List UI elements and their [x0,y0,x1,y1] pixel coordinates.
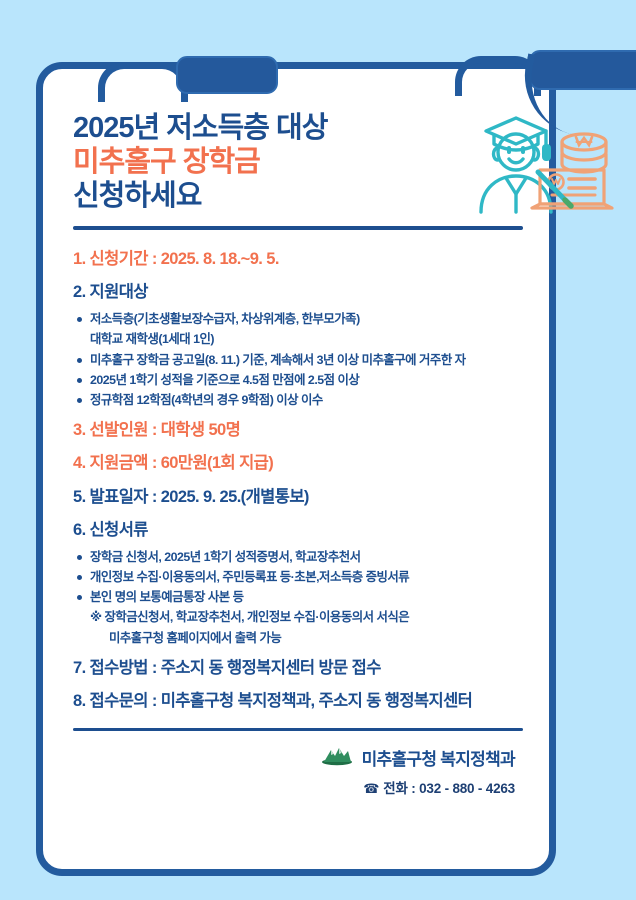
footer-divider [73,728,523,731]
binder-clip-left [98,40,278,100]
section-quota: 3. 선발인원 : 대학생 50명 [73,415,523,446]
sections-container: 1. 신청기간 : 2025. 8. 18.~9. 5.2. 지원대상저소득층(… [73,244,523,718]
poster-card: 2025년 저소득층 대상 미추홀구 장학금 신청하세요 1. 신청기간 : 2… [36,62,556,876]
telephone-icon: ☎ [363,781,379,796]
section-period: 1. 신청기간 : 2025. 8. 18.~9. 5. [73,244,523,275]
phone-row: ☎전화 : 032 - 880 - 4263 [73,777,515,797]
headline: 2025년 저소득층 대상 미추홀구 장학금 신청하세요 [73,111,523,214]
binder-clip-right [455,32,636,102]
phone-number: 전화 : 032 - 880 - 4263 [383,781,515,796]
title-divider [73,226,523,230]
binder-clip-tab [529,50,636,90]
footer: 미추홀구청 복지정책과 ☎전화 : 032 - 880 - 4263 [73,744,523,797]
section-eligibility: 2. 지원대상저소득층(기초생활보장수급자, 차상위계층, 한부모가족)대학교 … [73,277,523,410]
section-heading: 5. 발표일자 : 2025. 9. 25.(개별통보) [73,482,523,513]
headline-line-1: 2025년 저소득층 대상 [73,111,523,145]
binder-clip-tab [176,56,278,94]
section-documents: 6. 신청서류장학금 신청서, 2025년 1학기 성적증명서, 학교장추천서개… [73,515,523,648]
headline-line-2: 미추홀구 장학금 [73,145,523,179]
organization-row: 미추홀구청 복지정책과 [73,744,515,771]
headline-line-3: 신청하세요 [73,179,523,213]
list-item: 대학교 재학생(1세대 1인) [73,329,523,349]
list-item: 본인 명의 보통예금통장 사본 등 [73,587,523,607]
section-amount: 4. 지원금액 : 60만원(1회 지급) [73,448,523,479]
section-heading: 7. 접수방법 : 주소지 동 행정복지센터 방문 접수 [73,653,523,684]
list-item: 개인정보 수집·이용동의서, 주민등록표 등·초본,저소득층 증빙서류 [73,567,523,587]
binder-clip-arm [98,62,188,102]
section-heading: 2. 지원대상 [73,277,523,308]
section-heading: 8. 접수문의 : 미추홀구청 복지정책과, 주소지 동 행정복지센터 [73,686,523,717]
section-announcement: 5. 발표일자 : 2025. 9. 25.(개별통보) [73,482,523,513]
section-inquiries: 8. 접수문의 : 미추홀구청 복지정책과, 주소지 동 행정복지센터 [73,686,523,717]
list-item: 정규학점 12학점(4학년의 경우 9학점) 이상 이수 [73,390,523,410]
list-item: 미추홀구청 홈페이지에서 출력 가능 [73,628,523,648]
list-item: ※ 장학금신청서, 학교장추천서, 개인정보 수집·이용동의서 서식은 [73,607,523,627]
section-item-list: 저소득층(기초생활보장수급자, 차상위계층, 한부모가족)대학교 재학생(1세대… [73,309,523,409]
section-heading: 6. 신청서류 [73,515,523,546]
section-item-list: 장학금 신청서, 2025년 1학기 성적증명서, 학교장추천서개인정보 수집·… [73,547,523,647]
poster: 2025년 저소득층 대상 미추홀구 장학금 신청하세요 1. 신청기간 : 2… [0,0,636,900]
list-item: 장학금 신청서, 2025년 1학기 성적증명서, 학교장추천서 [73,547,523,567]
list-item: 저소득층(기초생활보장수급자, 차상위계층, 한부모가족) [73,309,523,329]
section-heading: 1. 신청기간 : 2025. 8. 18.~9. 5. [73,244,523,275]
section-heading: 3. 선발인원 : 대학생 50명 [73,415,523,446]
section-how-to-apply: 7. 접수방법 : 주소지 동 행정복지센터 방문 접수 [73,653,523,684]
michuhol-mountain-logo [320,744,354,771]
list-item: 2025년 1학기 성적을 기준으로 4.5점 만점에 2.5점 이상 [73,370,523,390]
organization-name: 미추홀구청 복지정책과 [362,745,515,770]
section-heading: 4. 지원금액 : 60만원(1회 지급) [73,448,523,479]
list-item: 미추홀구 장학금 공고일(8. 11.) 기준, 계속해서 3년 이상 미추홀구… [73,350,523,370]
